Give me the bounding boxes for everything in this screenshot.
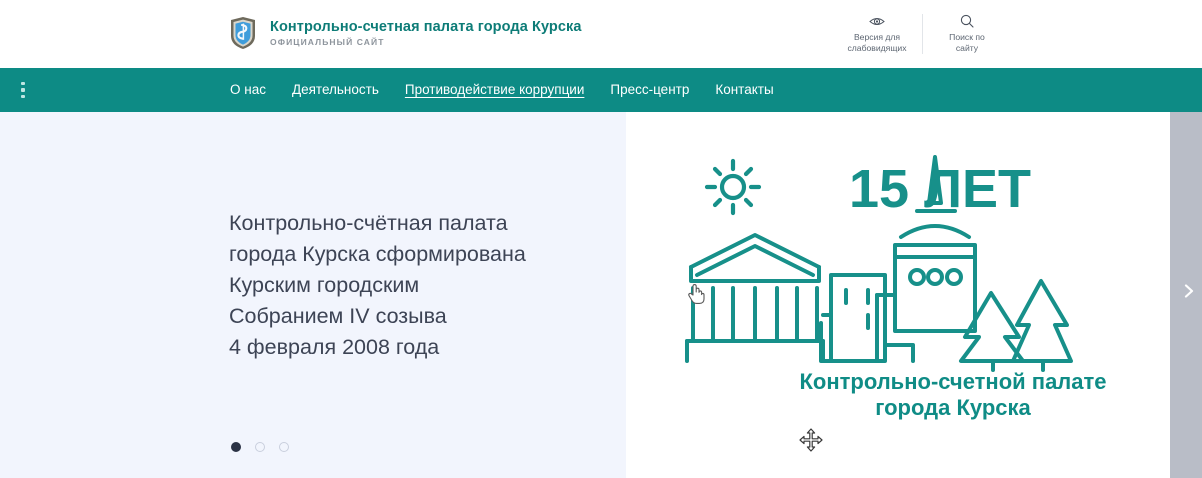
carousel-dots [231,442,289,452]
anniversary-illustration: 15 ЛЕТ [673,145,1093,375]
nav-item-press-center[interactable]: Пресс-центр [610,68,689,112]
classical-building-icon [687,235,823,361]
site-header: Контрольно-счетная палата города Курска … [0,0,1202,68]
carousel-dot-1[interactable] [231,442,241,452]
fir-tree-icon [961,281,1071,370]
nav-item-list: О нас Деятельность Противодействие корру… [230,68,774,112]
accessibility-version-button[interactable]: Версия для слабовидящих [832,0,922,68]
coat-of-arms-icon [228,16,258,50]
search-icon [960,14,974,29]
eye-icon [869,14,885,29]
hero-carousel: Контрольно-счётная палата города Курска … [0,112,1202,478]
sun-icon [707,161,759,213]
kebab-dot [21,82,25,86]
utility-bar: Версия для слабовидящих Поиск по сайту [832,0,1012,68]
kebab-dot [21,88,25,92]
site-search-button[interactable]: Поиск по сайту [922,0,1012,68]
artwork-caption: Контрольно-счетной палате города Курска [743,369,1163,421]
kebab-menu-icon[interactable] [13,68,33,112]
site-subtitle: ОФИЦИАЛЬНЫЙ САЙТ [270,37,582,47]
main-navigation: О нас Деятельность Противодействие корру… [0,68,1202,112]
nav-item-about[interactable]: О нас [230,68,266,112]
chevron-right-icon[interactable] [1182,284,1196,298]
hero-headline: Контрольно-счётная палата города Курска … [229,208,526,363]
nav-item-contacts[interactable]: Контакты [715,68,773,112]
site-title: Контрольно-счетная палата города Курска [270,19,582,35]
accessibility-version-label: Версия для слабовидящих [848,32,907,55]
carousel-dot-3[interactable] [279,442,289,452]
nav-item-activity[interactable]: Деятельность [292,68,379,112]
hero-artwork: 15 ЛЕТ Контрольно-счетной палате города … [626,112,1170,478]
kebab-dot [21,95,25,99]
carousel-dot-2[interactable] [255,442,265,452]
site-brand[interactable]: Контрольно-счетная палата города Курска … [228,16,582,50]
site-search-label: Поиск по сайту [949,32,985,55]
anniversary-number: 15 ЛЕТ [849,159,1031,219]
nav-item-anticorruption[interactable]: Противодействие коррупции [405,68,585,112]
